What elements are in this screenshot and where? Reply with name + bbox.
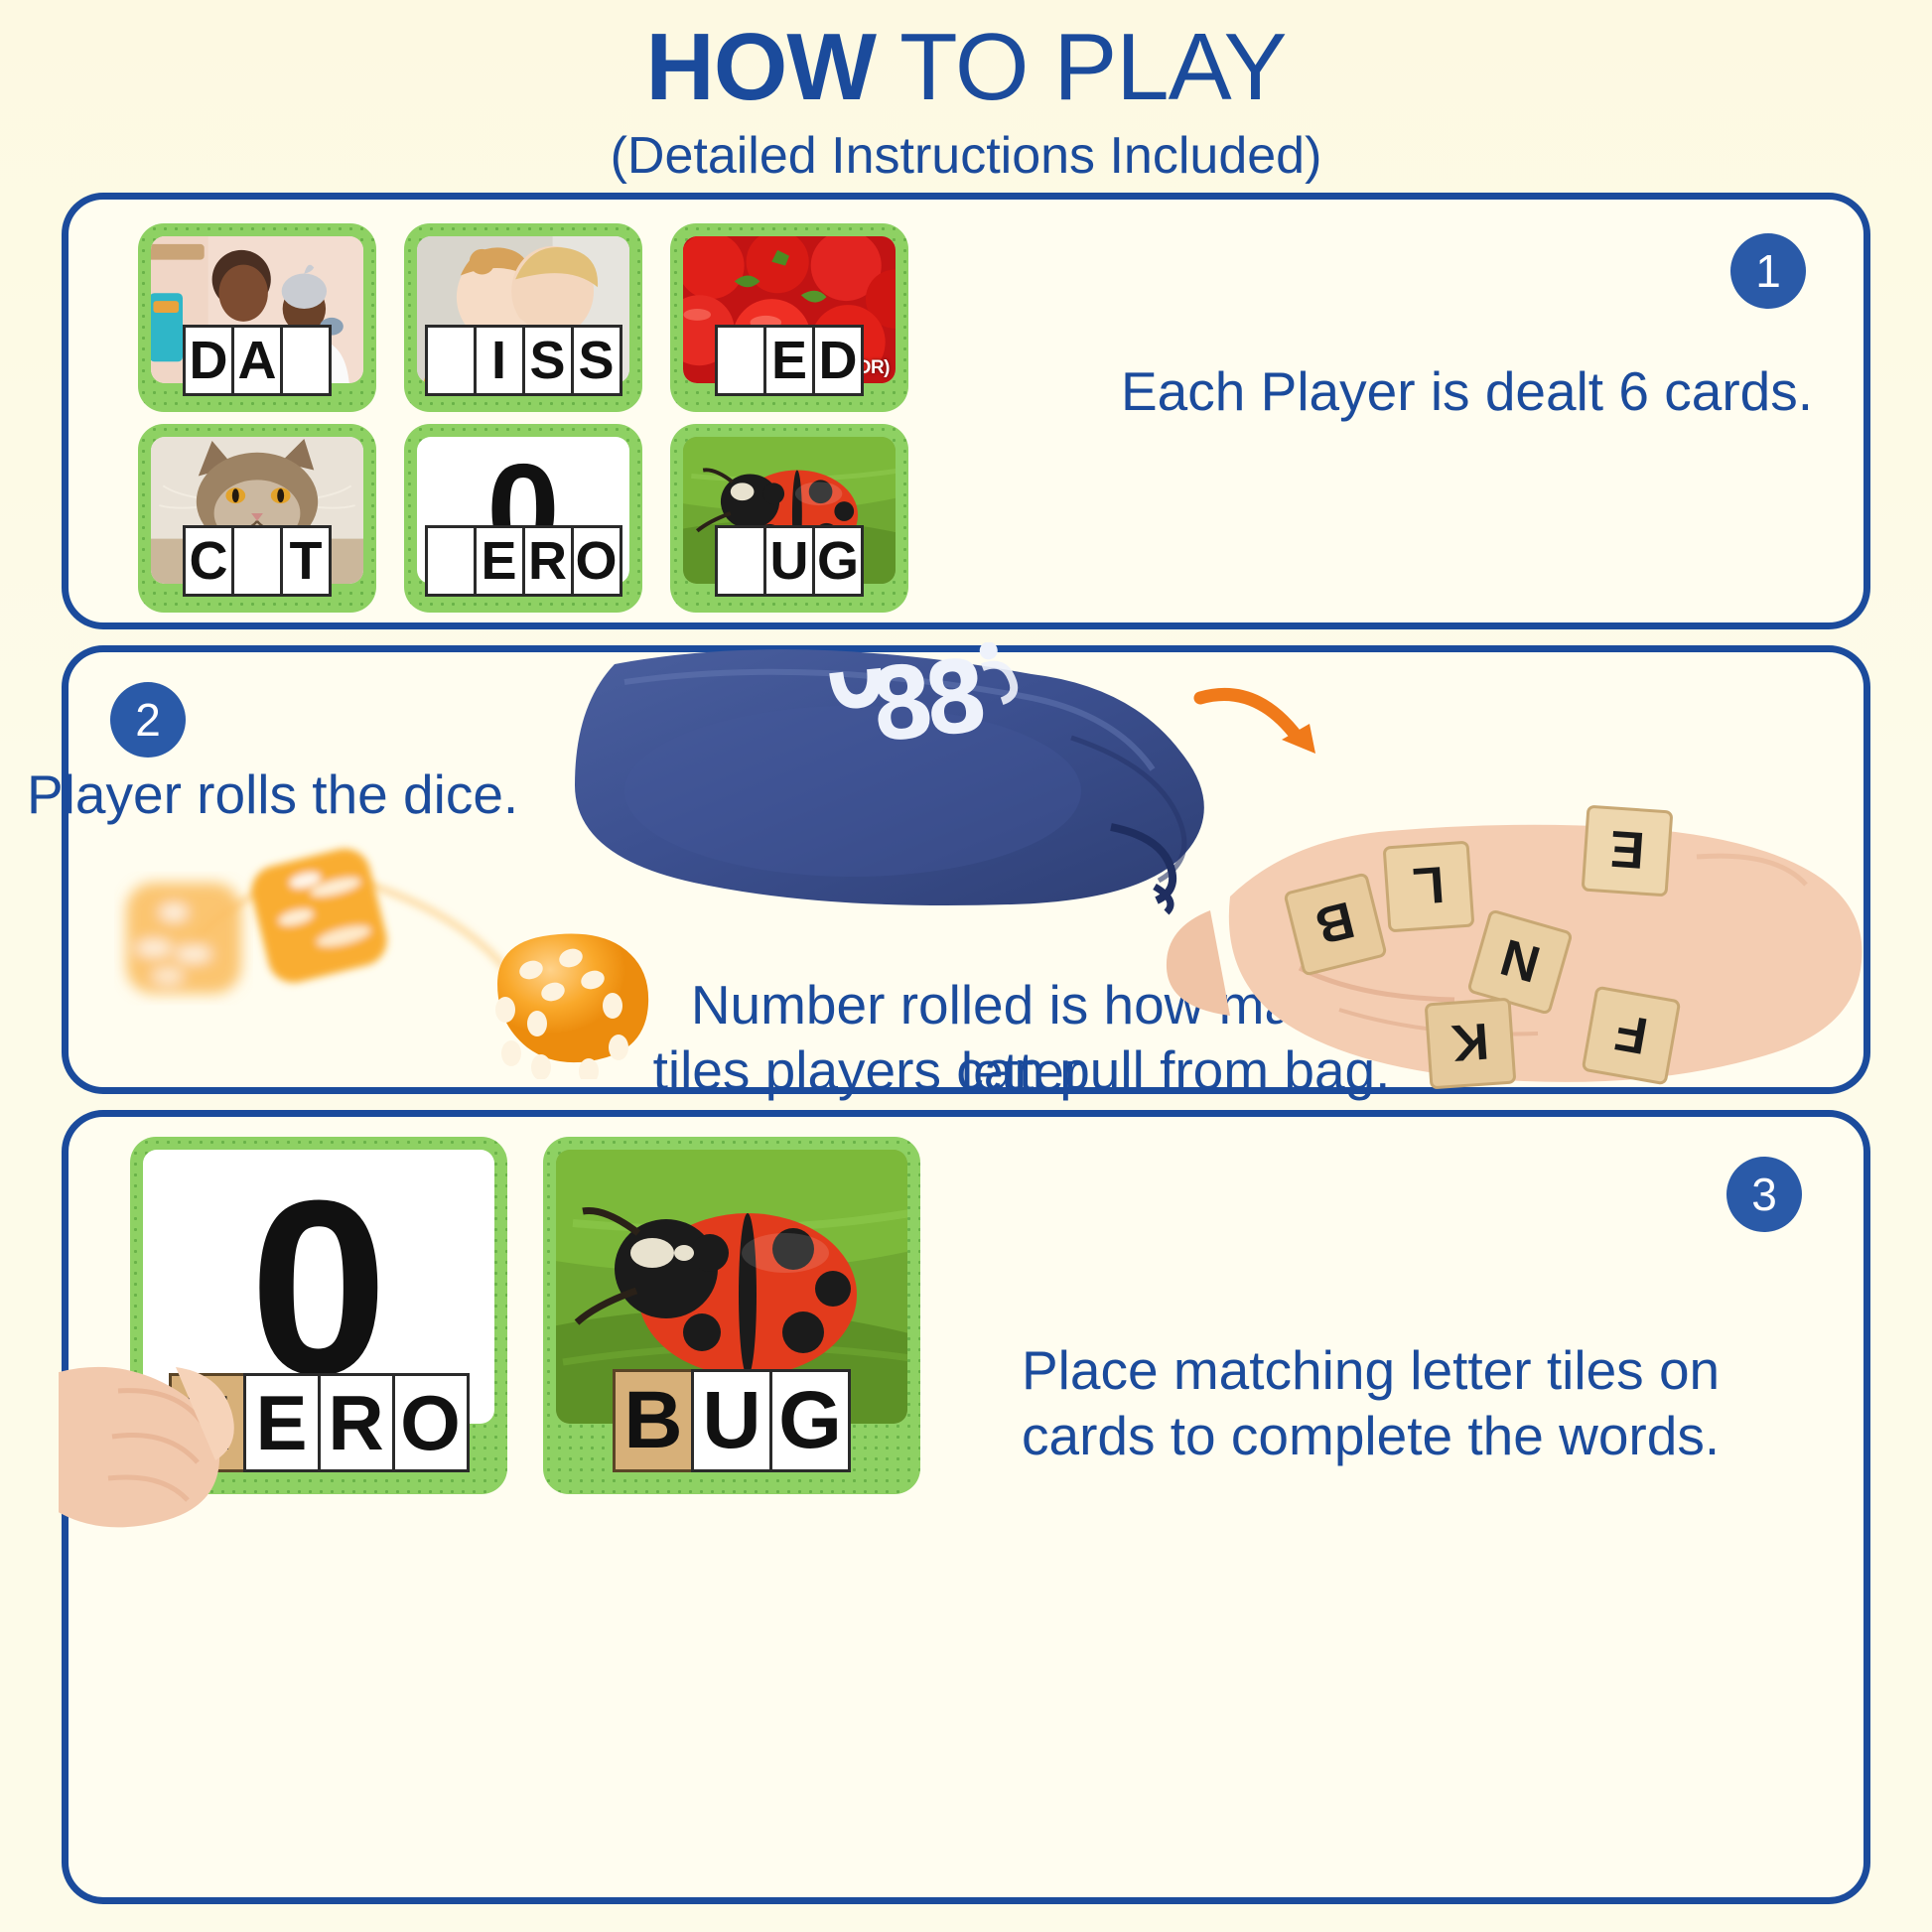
- letter-tile-blank[interactable]: [231, 525, 283, 597]
- letter-tile[interactable]: T: [280, 525, 332, 597]
- step-3-badge: 3: [1726, 1157, 1802, 1232]
- page-title: HOW TO PLAY: [0, 18, 1932, 118]
- step-3-text-line-2: cards to complete the words.: [1022, 1403, 1816, 1469]
- how-to-play-infographic: HOW TO PLAY (Detailed Instructions Inclu…: [0, 0, 1932, 1932]
- step-2-badge: 2: [110, 682, 186, 758]
- svg-text:L: L: [1411, 855, 1447, 914]
- hand-with-letter-tiles: B L E N K: [1141, 712, 1875, 1089]
- letter-tile[interactable]: U: [763, 525, 815, 597]
- svg-text:K: K: [1449, 1012, 1491, 1072]
- letter-tile[interactable]: S: [522, 325, 574, 396]
- card-word-zero: E R O: [404, 525, 642, 597]
- letter-tile-blank[interactable]: [715, 525, 766, 597]
- card-word-red: E D: [670, 325, 908, 396]
- letter-tile-blank[interactable]: [425, 325, 477, 396]
- letter-tile[interactable]: E: [763, 325, 815, 396]
- letter-tile[interactable]: E: [474, 525, 525, 597]
- letter-tile[interactable]: D: [812, 325, 864, 396]
- letter-tile[interactable]: C: [183, 525, 234, 597]
- letter-tile[interactable]: R: [522, 525, 574, 597]
- letter-tile[interactable]: R: [318, 1373, 395, 1472]
- page-title-light: TO PLAY: [876, 14, 1287, 120]
- step-3-text-line-1: Place matching letter tiles on: [1022, 1337, 1816, 1404]
- hand-placing-tile: [59, 1345, 287, 1564]
- letter-tile[interactable]: A: [231, 325, 283, 396]
- step-2-panel: 2 Player rolls the dice. Number rolled i…: [62, 645, 1870, 1094]
- card-word-cat: C T: [138, 525, 376, 597]
- letter-tile[interactable]: G: [812, 525, 864, 597]
- letter-tile-blank[interactable]: [715, 325, 766, 396]
- flash-card-zero[interactable]: 0 E R O: [404, 424, 642, 613]
- flash-card-bug[interactable]: U G: [670, 424, 908, 613]
- page-title-bold: HOW: [645, 14, 876, 120]
- card-word-dad: D A: [138, 325, 376, 396]
- card-word-bug: B U G: [543, 1369, 920, 1472]
- rolling-dice-group: [108, 831, 664, 1079]
- letter-tile[interactable]: D: [183, 325, 234, 396]
- step-2-text: Player rolls the dice.: [27, 761, 583, 828]
- letter-tile[interactable]: G: [769, 1369, 851, 1472]
- completed-card-bug[interactable]: B U G: [543, 1137, 920, 1494]
- flash-card-cat[interactable]: C T: [138, 424, 376, 613]
- letter-tile[interactable]: S: [571, 325, 622, 396]
- letter-tile-wood[interactable]: B: [613, 1369, 694, 1472]
- flash-card-dad[interactable]: D A: [138, 223, 376, 412]
- svg-text:E: E: [1608, 819, 1647, 879]
- step-1-text: Each Player is dealt 6 cards.: [1121, 358, 1856, 425]
- card-word-bug: U G: [670, 525, 908, 597]
- letter-tile[interactable]: O: [392, 1373, 470, 1472]
- letter-tile[interactable]: O: [571, 525, 622, 597]
- header: HOW TO PLAY (Detailed Instructions Inclu…: [0, 18, 1932, 186]
- card-word-kiss: I S S: [404, 325, 642, 396]
- page-subtitle: (Detailed Instructions Included): [0, 126, 1932, 186]
- letter-tile[interactable]: I: [474, 325, 525, 396]
- flash-card-red[interactable]: (COLOR) E D: [670, 223, 908, 412]
- step-1-panel: 1 Each Player is dealt 6 cards.: [62, 193, 1870, 629]
- letter-tile[interactable]: U: [691, 1369, 772, 1472]
- letter-tile-blank[interactable]: [425, 525, 477, 597]
- letter-tile-blank[interactable]: [280, 325, 332, 396]
- step-3-panel: 3 Place matching letter tiles on cards t…: [62, 1110, 1870, 1904]
- step-1-badge: 1: [1730, 233, 1806, 309]
- flash-card-kiss[interactable]: I S S: [404, 223, 642, 412]
